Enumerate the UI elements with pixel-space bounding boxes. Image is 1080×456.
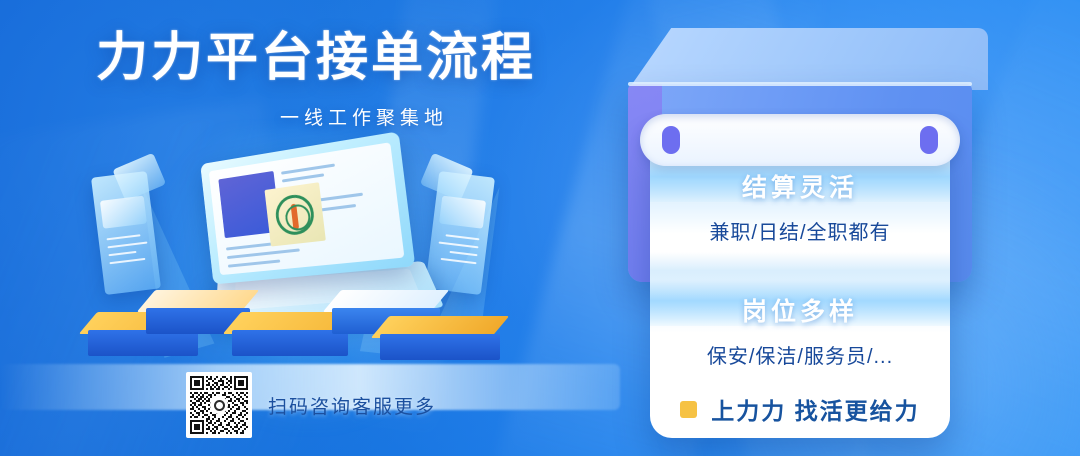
document-panel-decoration bbox=[100, 196, 147, 229]
qr-code-image[interactable] bbox=[186, 372, 252, 438]
document-line-decoration bbox=[107, 234, 141, 240]
document-line-decoration bbox=[441, 258, 477, 264]
screen-text-line bbox=[227, 248, 300, 259]
official-seal-emblem-icon bbox=[264, 182, 325, 246]
receipt-footer-text: 上力力 找活更给力 bbox=[711, 392, 919, 426]
receipt-paper: 结算灵活 兼职/日结/全职都有 岗位多样 保安/保洁/服务员/... 上力力 找… bbox=[650, 128, 950, 438]
printer-paper-slot bbox=[640, 114, 960, 166]
document-panel-decoration bbox=[439, 196, 486, 229]
printer-top-face bbox=[628, 28, 988, 90]
headline-group: 力力平台接单流程 一线工作聚集地 bbox=[96, 28, 566, 130]
receipt-heading-2: 岗位多样 bbox=[650, 292, 950, 328]
document-line-decoration bbox=[107, 241, 147, 248]
emblem-bar-decoration bbox=[291, 204, 300, 230]
floating-document-icon bbox=[91, 171, 161, 295]
search-circle-icon bbox=[210, 396, 228, 414]
page-title: 力力平台接单流程 bbox=[96, 28, 566, 89]
printer-icon: 结算灵活 兼职/日结/全职都有 岗位多样 保安/保洁/服务员/... 上力力 找… bbox=[628, 28, 988, 448]
qr-row: 扫码咨询客服更多 bbox=[186, 372, 436, 438]
document-line-decoration bbox=[450, 251, 478, 256]
emblem-ring-decoration bbox=[274, 192, 316, 236]
screen-text-line bbox=[281, 164, 335, 175]
laptop-lid bbox=[200, 131, 415, 284]
receipt-detail-1: 兼职/日结/全职都有 bbox=[650, 216, 950, 245]
promo-banner: 力力平台接单流程 一线工作聚集地 bbox=[0, 0, 1080, 456]
receipt-heading-1: 结算灵活 bbox=[650, 168, 950, 204]
receipt-footer: 上力力 找活更给力 bbox=[650, 392, 950, 426]
printer-edge-highlight bbox=[628, 82, 972, 86]
document-line-decoration bbox=[445, 234, 479, 240]
receipt-detail-2: 保安/保洁/服务员/... bbox=[650, 340, 950, 369]
laptop-screen bbox=[209, 142, 405, 275]
page-subtitle: 一线工作聚集地 bbox=[214, 103, 514, 130]
document-line-decoration bbox=[108, 251, 136, 256]
document-line-decoration bbox=[439, 241, 479, 248]
square-bullet-icon bbox=[680, 401, 697, 418]
screen-text-line bbox=[282, 173, 324, 182]
screen-text-line bbox=[315, 193, 363, 202]
qr-caption: 扫码咨询客服更多 bbox=[268, 392, 436, 419]
document-line-decoration bbox=[109, 258, 145, 264]
screen-text-line bbox=[228, 259, 280, 267]
